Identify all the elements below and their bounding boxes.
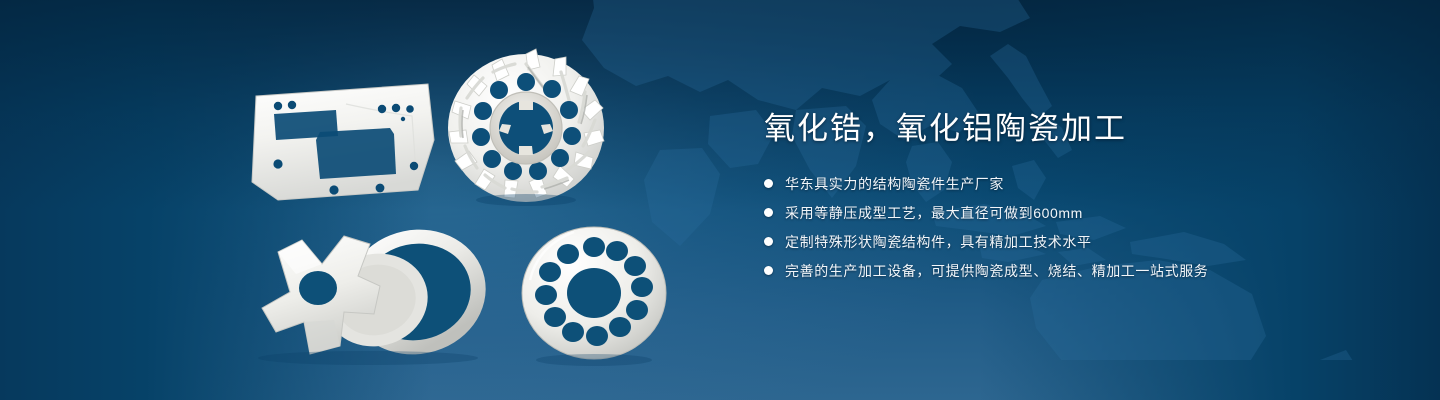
bullet-dot-icon: [764, 266, 773, 275]
feature-text: 完善的生产加工设备，可提供陶瓷成型、烧结、精加工一站式服务: [785, 261, 1208, 281]
feature-item-1: 华东具实力的结构陶瓷件生产厂家: [764, 172, 1384, 195]
ceramic-plate: [250, 78, 440, 206]
feature-text: 定制特殊形状陶瓷结构件，具有精加工技术水平: [785, 232, 1092, 252]
feature-item-4: 完善的生产加工设备，可提供陶瓷成型、烧结、精加工一站式服务: [764, 259, 1384, 282]
feature-list: 华东具实力的结构陶瓷件生产厂家 采用等静压成型工艺，最大直径可做到600mm 定…: [764, 172, 1384, 282]
bullet-dot-icon: [764, 237, 773, 246]
banner-copy: 氧化锆，氧化铝陶瓷加工 华东具实力的结构陶瓷件生产厂家 采用等静压成型工艺，最大…: [764, 108, 1384, 288]
feature-item-2: 采用等静压成型工艺，最大直径可做到600mm: [764, 201, 1384, 224]
bullet-dot-icon: [764, 179, 773, 188]
ceramic-cross-and-ring: [248, 222, 498, 364]
feature-text: 华东具实力的结构陶瓷件生产厂家: [785, 174, 1004, 194]
product-photo-group: [0, 0, 740, 400]
promo-banner: 氧化锆，氧化铝陶瓷加工 华东具实力的结构陶瓷件生产厂家 采用等静压成型工艺，最大…: [0, 0, 1440, 400]
ceramic-hole-disc: [518, 222, 670, 364]
banner-headline: 氧化锆，氧化铝陶瓷加工: [764, 108, 1384, 150]
bullet-dot-icon: [764, 208, 773, 217]
ceramic-impeller: [443, 48, 609, 206]
feature-text: 采用等静压成型工艺，最大直径可做到600mm: [785, 203, 1083, 223]
feature-item-3: 定制特殊形状陶瓷结构件，具有精加工技术水平: [764, 230, 1384, 253]
